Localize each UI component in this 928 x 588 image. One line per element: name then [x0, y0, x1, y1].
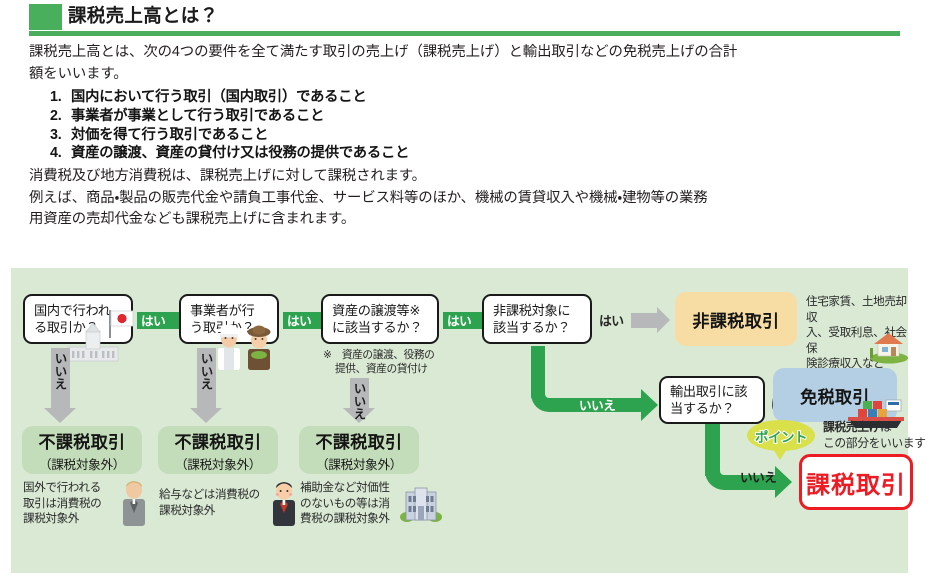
arrow-head-icon [44, 408, 76, 423]
caption-untaxed-2: 給与などは消費税の 課税対象外 [159, 487, 269, 518]
arrow-no-business: いいえ [189, 348, 223, 423]
point-line-1-emphasis: 課税売上げ [823, 420, 880, 434]
footnote-line-2: 提供、資産の貸付け [323, 362, 453, 376]
requirement-text: 資産の譲渡、資産の貸付け又は役務の提供であること [71, 144, 409, 163]
decision-export-line2: 当するか？ [670, 400, 763, 418]
result-sublabel: （課税対象外） [39, 454, 125, 473]
header-rule [29, 31, 900, 36]
asset-transfer-footnote: ※ 資産の譲渡、役務の 提供、資産の貸付け [323, 348, 453, 376]
decision-nontaxable-line2: 該当するか？ [493, 319, 590, 337]
result-label: 不課税取引 [316, 428, 403, 453]
connector-no-export-corner [705, 456, 739, 490]
connector-label-no: いいえ [579, 395, 615, 414]
result-label: 不課税取引 [175, 428, 262, 453]
caption-line-1: 住宅家賃、土地売却収 [806, 294, 914, 325]
requirement-item: 2. 事業者が事業として行う取引であること [50, 107, 750, 126]
connector-arrow-head-icon [775, 466, 792, 498]
requirement-item: 3. 対価を得て行う取引であること [50, 126, 750, 145]
header-accent-swatch [29, 4, 62, 30]
caption-line-3: 費税の課税対象外 [300, 511, 400, 527]
point-description: 課税売上げは この部分をいいます [823, 420, 928, 451]
decision-asset-line2: に該当するか？ [332, 319, 437, 337]
decision-export-transaction[interactable]: 輸出取引に該 当するか？ [659, 376, 765, 424]
result-label: 不課税取引 [39, 428, 126, 453]
requirement-number: 4. [50, 144, 71, 163]
connector-label-no: いいえ [740, 467, 776, 486]
footnote-line-1: ※ 資産の譲渡、役務の [323, 348, 453, 362]
arrow-head-icon [190, 408, 222, 423]
arrow-head-icon [657, 307, 670, 333]
caption-line-2: のないもの等は消 [300, 496, 400, 512]
arrow-shaft [631, 313, 657, 328]
result-label: 非課税取引 [693, 307, 780, 332]
intro-line-1: 課税売上高とは、次の4つの要件を全て満たす取引の売上げ（課税売上げ）と輸出取引な… [29, 42, 905, 64]
caption-line-1: 国外で行われる [23, 480, 119, 496]
arrow-no-asset-transfer: いいえ [342, 378, 376, 423]
decision-nontaxable-target[interactable]: 非課税対象に 該当するか？ [482, 294, 592, 344]
result-untaxed-2: 不課税取引 （課税対象外） [158, 426, 278, 474]
decision-asset-transfer[interactable]: 資産の譲渡等※ に該当するか？ [321, 294, 439, 344]
arrow-label-no: いいえ [350, 382, 368, 421]
result-label: 課税取引 [806, 465, 906, 500]
requirement-text: 対価を得て行う取引であること [71, 126, 268, 145]
farmer-worker-icon [243, 324, 275, 372]
connector-arrow-head-icon [641, 389, 658, 421]
arrow-yes-nontaxable: はい [631, 307, 671, 333]
businessman-icon [117, 480, 151, 528]
arrow-label-no: いいえ [197, 352, 215, 391]
arrow-label-yes: はい [599, 311, 624, 330]
intro-line-2: 額をいいます。 [29, 64, 905, 86]
page-title: 課税売上高とは？ [68, 3, 218, 29]
requirement-item: 4. 資産の譲渡、資産の貸付け又は役務の提供であること [50, 144, 750, 163]
arrow-label-yes: はい [447, 311, 471, 330]
result-sublabel: （課税対象外） [175, 454, 261, 473]
decision-export-line1: 輸出取引に該 [670, 383, 763, 401]
requirement-text: 国内において行う取引（国内取引）であること [71, 88, 366, 107]
decision-asset-line1: 資産の譲渡等※ [332, 302, 437, 320]
caption-line-1: 補助金など対価性 [300, 480, 400, 496]
point-badge: ポイント [747, 420, 815, 451]
requirement-number: 2. [50, 107, 71, 126]
arrow-label-no: いいえ [51, 352, 69, 391]
house-icon [867, 330, 911, 364]
arrow-no-domestic: いいえ [43, 348, 77, 423]
result-untaxed-3: 不課税取引 （課税対象外） [299, 426, 419, 474]
salaryman-icon [267, 480, 301, 528]
caption-untaxed-3: 補助金など対価性 のないもの等は消 費税の課税対象外 [300, 480, 400, 527]
arrow-label-yes: はい [287, 311, 311, 330]
point-badge-tail-icon [773, 449, 787, 460]
requirement-text: 事業者が事業として行う取引であること [71, 107, 324, 126]
result-untaxed-1: 不課税取引 （課税対象外） [22, 426, 142, 474]
caption-line-1: 給与などは消費税の [159, 487, 269, 503]
result-sublabel: （課税対象外） [316, 454, 402, 473]
government-building-icon [399, 484, 443, 524]
page-header: 課税売上高とは？ [0, 0, 928, 40]
requirement-number: 1. [50, 88, 71, 107]
outro-paragraph: 消費税及び地方消費税は、課税売上げに対して課税されます。 例えば、商品・製品の販… [29, 166, 909, 231]
requirement-list: 1. 国内において行う取引（国内取引）であること 2. 事業者が事業として行う取… [50, 88, 750, 163]
result-nontaxable: 非課税取引 [675, 292, 797, 346]
point-line-1: 課税売上げは [823, 420, 928, 436]
result-taxable: 課税取引 [799, 454, 913, 510]
requirement-item: 1. 国内において行う取引（国内取引）であること [50, 88, 750, 107]
requirement-number: 3. [50, 126, 71, 145]
flowchart-panel: 国内で行われ る取引か？ はい いいえ 不課税取引 （課税対象外） 国外 [11, 268, 908, 573]
caption-line-3: 課税対象外 [23, 511, 119, 527]
point-line-1-suffix: は [880, 420, 891, 434]
caption-line-2: 取引は消費税の [23, 496, 119, 512]
decision-nontaxable-line1: 非課税対象に [493, 302, 590, 320]
intro-paragraph: 課税売上高とは、次の4つの要件を全て満たす取引の売上げ（課税売上げ）と輸出取引な… [29, 42, 905, 85]
point-line-2: この部分をいいます [823, 436, 928, 452]
outro-line-3: 用資産の売却代金なども課税売上げに含まれます。 [29, 209, 909, 231]
caption-untaxed-1: 国外で行われる 取引は消費税の 課税対象外 [23, 480, 119, 527]
arrow-label-yes: はい [141, 311, 165, 330]
outro-line-1: 消費税及び地方消費税は、課税売上げに対して課税されます。 [29, 166, 909, 188]
outro-line-2: 例えば、商品・製品の販売代金や請負工事代金、サービス料等のほか、機械の賃貸収入や… [29, 188, 909, 210]
point-badge-label: ポイント [755, 426, 807, 446]
caption-line-2: 課税対象外 [159, 503, 269, 519]
decision-business-line1: 事業者が行 [190, 302, 277, 320]
